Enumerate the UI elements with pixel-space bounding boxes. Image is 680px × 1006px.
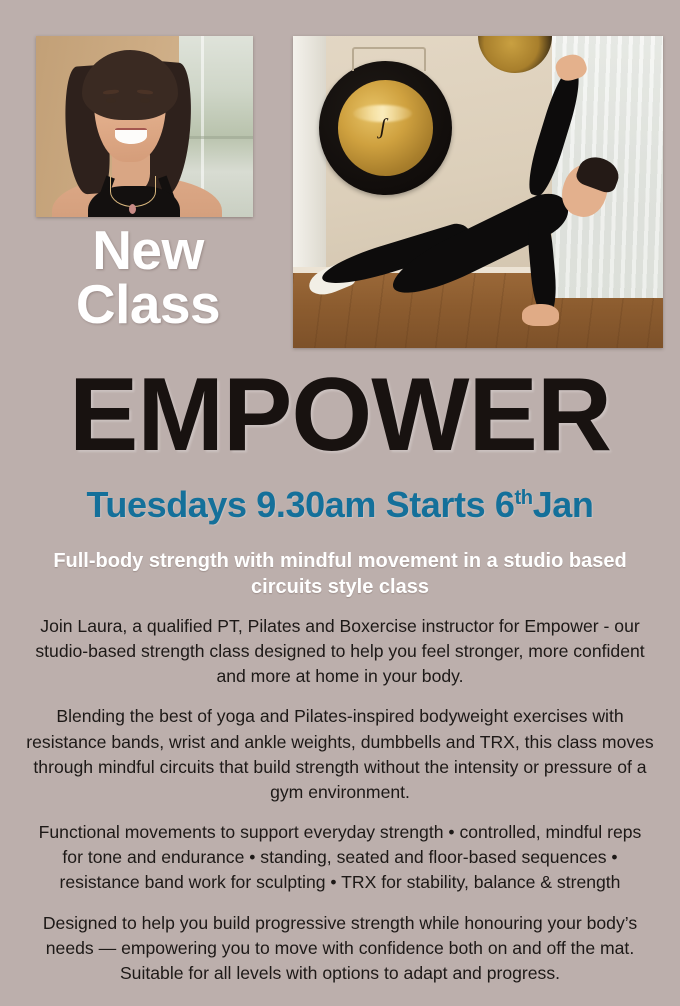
instructor-portrait-photo [36,36,253,217]
paragraph-outcome: Designed to help you build progressive s… [20,911,660,986]
side-plank-studio-photo: ʃ [293,36,663,348]
gong-symbol: ʃ [380,116,393,141]
class-schedule: Tuesdays 9.30am Starts 6thJan [0,486,680,524]
poster-tagline: Full-body strength with mindful movement… [22,548,658,600]
poster: ʃ New Class EMPOWER Tuesdays 9.30am Star… [0,0,680,1006]
portrait-eye-right [140,98,150,103]
paragraph-features: Functional movements to support everyday… [20,820,660,895]
portrait-smile [115,128,147,144]
gong: ʃ [319,61,452,195]
schedule-main: Tuesdays 9.30am Starts 6 [86,484,514,525]
new-class-line-1: New [24,224,272,278]
portrait-eye-left [106,98,116,103]
schedule-ordinal: th [514,487,532,509]
studio-curtain-left [293,36,326,286]
paragraph-intro: Join Laura, a qualified PT, Pilates and … [20,614,660,689]
new-class-line-2: Class [24,278,272,332]
new-class-badge: New Class [24,224,272,332]
paragraph-method: Blending the best of yoga and Pilates-in… [20,704,660,805]
gong-hanger [352,47,426,71]
gong-disc: ʃ [338,80,434,177]
poster-body-copy: Join Laura, a qualified PT, Pilates and … [20,614,660,986]
plank-supporting-hand [522,304,559,326]
schedule-month: Jan [533,484,594,525]
portrait-necklace [110,176,156,207]
portrait-pendant [129,204,136,214]
poster-title: EMPOWER [0,363,680,467]
